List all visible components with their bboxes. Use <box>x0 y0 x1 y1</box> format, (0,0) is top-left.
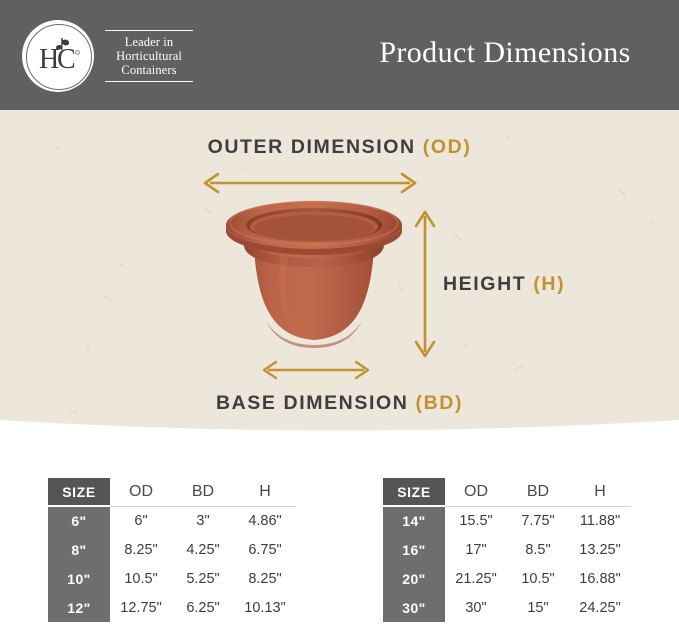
height-label: HEIGHT (H) <box>443 273 565 296</box>
table-large-sizes: SIZE OD BD H 14" 15.5" 7.75" 11.88" 16" <box>383 478 631 622</box>
tagline-line-2: Horticultural <box>105 49 193 63</box>
height-abbr: (H) <box>533 273 565 295</box>
cell-od: 30" <box>445 593 507 622</box>
cell-od: 15.5" <box>445 506 507 535</box>
cell-h: 13.25" <box>569 535 631 564</box>
outer-dimension-label: OUTER DIMENSION (OD) <box>0 136 679 159</box>
cell-size: 16" <box>383 535 445 564</box>
cell-h: 10.13" <box>234 593 296 622</box>
cell-bd: 7.75" <box>507 506 569 535</box>
cell-size: 30" <box>383 593 445 622</box>
page-title: Product Dimensions <box>355 36 655 70</box>
base-dimension-text: BASE DIMENSION <box>216 392 409 414</box>
cell-bd: 6.25" <box>172 593 234 622</box>
base-dimension-label: BASE DIMENSION (BD) <box>0 392 679 415</box>
column-header-h: H <box>234 478 296 506</box>
outer-dimension-abbr: (OD) <box>423 136 472 158</box>
brand-tagline: Leader in Horticultural Containers <box>105 30 193 82</box>
dimension-table-small: SIZE OD BD H 6" 6" 3" 4.86" 8" <box>48 478 296 622</box>
dimension-table-large: SIZE OD BD H 14" 15.5" 7.75" 11.88" 16" <box>383 478 631 622</box>
brand-logo: H C Leader in Horticultural Containers <box>22 20 193 92</box>
cell-h: 4.86" <box>234 506 296 535</box>
cell-size: 6" <box>48 506 110 535</box>
table-header-row: SIZE OD BD H <box>383 478 631 506</box>
column-header-size: SIZE <box>383 478 445 506</box>
hc-circle-leaf-logo-icon: H C <box>22 20 94 92</box>
cell-bd: 8.5" <box>507 535 569 564</box>
table-row: 20" 21.25" 10.5" 16.88" <box>383 564 631 593</box>
column-header-size: SIZE <box>48 478 110 506</box>
cell-bd: 10.5" <box>507 564 569 593</box>
table-header-row: SIZE OD BD H <box>48 478 296 506</box>
tagline-line-3: Containers <box>105 63 193 77</box>
dimension-diagram: OUTER DIMENSION (OD) <box>0 110 679 435</box>
table-row: 6" 6" 3" 4.86" <box>48 506 296 535</box>
column-header-bd: BD <box>172 478 234 506</box>
outer-dimension-text: OUTER DIMENSION <box>208 136 416 158</box>
cell-od: 17" <box>445 535 507 564</box>
product-dimensions-infographic: H C Leader in Horticultural Containers P… <box>0 0 679 636</box>
cell-size: 10" <box>48 564 110 593</box>
header-bar: H C Leader in Horticultural Containers P… <box>0 0 679 110</box>
height-text: HEIGHT <box>443 273 526 295</box>
table-row: 8" 8.25" 4.25" 6.75" <box>48 535 296 564</box>
cell-od: 6" <box>110 506 172 535</box>
cell-size: 8" <box>48 535 110 564</box>
cell-size: 20" <box>383 564 445 593</box>
cell-size: 12" <box>48 593 110 622</box>
height-arrow-icon <box>414 208 436 360</box>
cell-h: 24.25" <box>569 593 631 622</box>
table-row: 10" 10.5" 5.25" 8.25" <box>48 564 296 593</box>
table-small-sizes: SIZE OD BD H 6" 6" 3" 4.86" 8" <box>48 478 296 622</box>
cell-h: 8.25" <box>234 564 296 593</box>
column-header-bd: BD <box>507 478 569 506</box>
base-dimension-abbr: (BD) <box>415 392 463 414</box>
cell-bd: 4.25" <box>172 535 234 564</box>
cell-bd: 5.25" <box>172 564 234 593</box>
cell-h: 6.75" <box>234 535 296 564</box>
cell-h: 11.88" <box>569 506 631 535</box>
base-dimension-arrow-icon <box>260 359 372 381</box>
table-row: 30" 30" 15" 24.25" <box>383 593 631 622</box>
cell-bd: 3" <box>172 506 234 535</box>
table-row: 12" 12.75" 6.25" 10.13" <box>48 593 296 622</box>
column-header-h: H <box>569 478 631 506</box>
cell-h: 16.88" <box>569 564 631 593</box>
cell-od: 8.25" <box>110 535 172 564</box>
cell-od: 12.75" <box>110 593 172 622</box>
table-row: 16" 17" 8.5" 13.25" <box>383 535 631 564</box>
svg-text:H: H <box>39 44 59 75</box>
table-row: 14" 15.5" 7.75" 11.88" <box>383 506 631 535</box>
cell-od: 21.25" <box>445 564 507 593</box>
column-header-od: OD <box>445 478 507 506</box>
cell-od: 10.5" <box>110 564 172 593</box>
terracotta-planter-pot-image <box>222 195 406 375</box>
column-header-od: OD <box>110 478 172 506</box>
cell-bd: 15" <box>507 593 569 622</box>
svg-text:C: C <box>57 44 76 75</box>
tagline-line-1: Leader in <box>105 35 193 49</box>
cell-size: 14" <box>383 506 445 535</box>
outer-dimension-arrow-icon <box>200 172 420 194</box>
